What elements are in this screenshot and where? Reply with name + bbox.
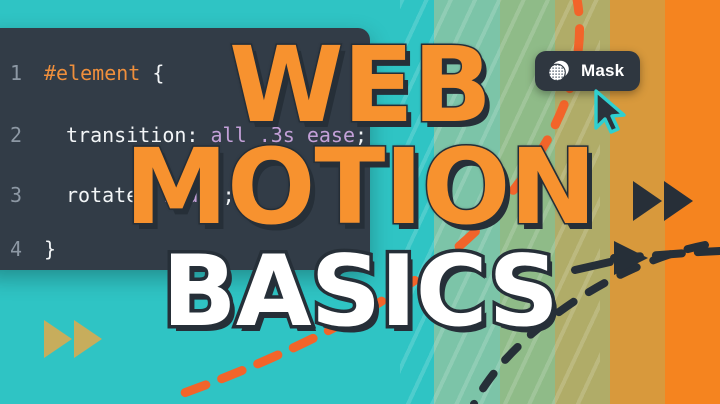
- mask-circles-icon: [546, 58, 572, 84]
- headline-line-2: MOTION: [0, 138, 720, 237]
- mask-badge-label: Mask: [581, 61, 624, 81]
- mouse-pointer-icon: [592, 88, 632, 136]
- thumbnail-canvas: 1 #element { 2 transition : all .3s ease…: [0, 0, 720, 404]
- mask-badge[interactable]: Mask: [535, 51, 640, 91]
- headline-line-3: BASICS: [0, 246, 720, 339]
